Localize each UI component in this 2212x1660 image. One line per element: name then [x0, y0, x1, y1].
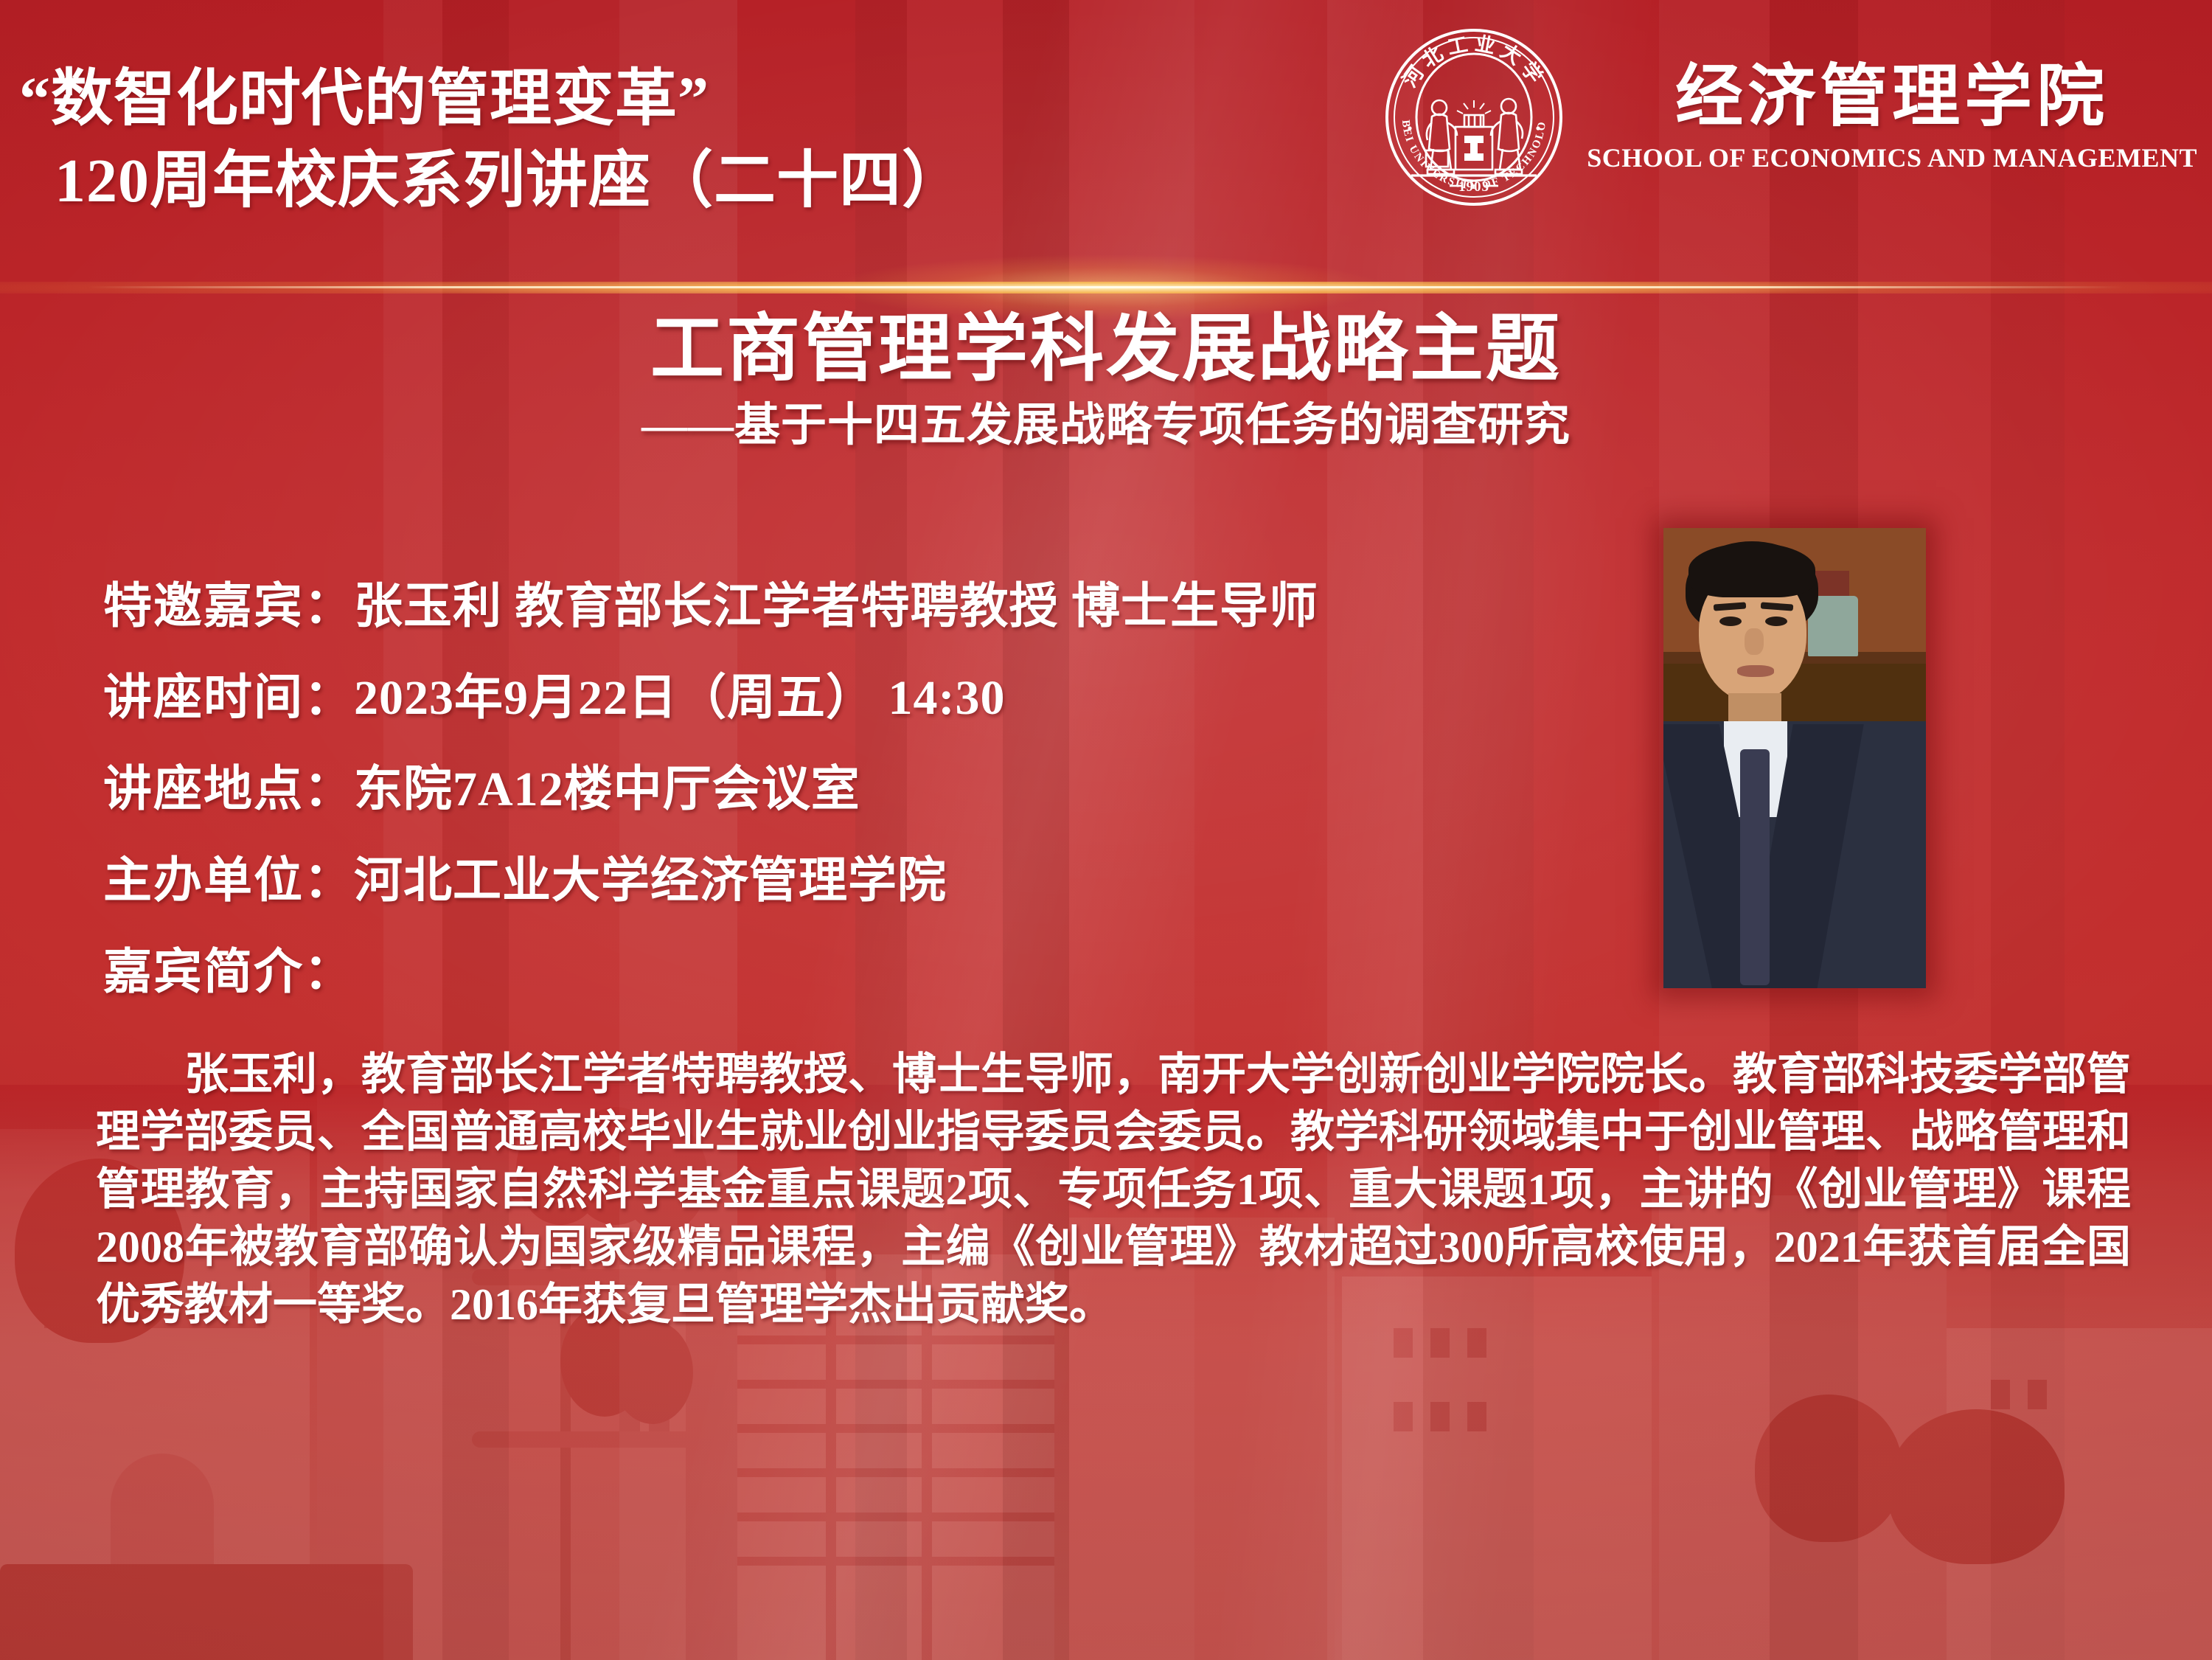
speaker-portrait-photo: [1663, 528, 1926, 988]
detail-label-time: 讲座时间：: [103, 671, 354, 725]
detail-label-organizer: 主办单位：: [103, 854, 354, 908]
detail-label-guest: 特邀嘉宾：: [103, 580, 354, 633]
school-name-en: SCHOOL OF ECONOMICS AND MANAGEMENT: [1587, 142, 2197, 173]
series-subtitle-line: 120周年校庆系列讲座（二十四）: [19, 141, 1317, 223]
series-heading: “数智化时代的管理变革” 120周年校庆系列讲座（二十四）: [19, 59, 1317, 223]
svg-text:河北工业大学: 河北工业大学: [1399, 32, 1551, 91]
lecture-title-main: 工商管理学科发展战略主题: [0, 308, 2212, 391]
school-name-cn: 经济管理学院: [1675, 61, 2109, 133]
school-name-block: 经济管理学院 SCHOOL OF ECONOMICS AND MANAGEMEN…: [1587, 61, 2197, 174]
university-seal-icon: 河北工业大学 HEBEI UNIVERSITY OF TECHNOLOGY: [1382, 25, 1566, 209]
detail-row-location: 讲座地点：东院7A12楼中厅会议室: [103, 765, 1622, 814]
lecture-title-sub: ——基于十四五发展战略专项任务的调查研究: [0, 395, 2212, 457]
lecture-details: 特邀嘉宾：张玉利 教育部长江学者特聘教授 博士生导师 讲座时间：2023年9月2…: [103, 583, 1622, 1040]
detail-value-time: 2023年9月22日（周五） 14:30: [354, 671, 1005, 725]
detail-value-location: 东院7A12楼中厅会议室: [354, 763, 860, 816]
series-quote-line: “数智化时代的管理变革”: [19, 65, 709, 133]
detail-label-location: 讲座地点：: [103, 763, 354, 816]
detail-value-guest: 张玉利 教育部长江学者特聘教授 博士生导师: [354, 580, 1318, 633]
detail-value-organizer: 河北工业大学经济管理学院: [354, 854, 947, 908]
school-logo-block: 河北工业大学 HEBEI UNIVERSITY OF TECHNOLOGY: [1382, 25, 2197, 209]
detail-row-bio-heading: 嘉宾简介：: [103, 948, 1622, 997]
detail-row-guest: 特邀嘉宾：张玉利 教育部长江学者特聘教授 博士生导师: [103, 583, 1622, 631]
lecture-poster: “数智化时代的管理变革” 120周年校庆系列讲座（二十四） 河北工业大学 HEB…: [0, 0, 2212, 1660]
speaker-biography: 张玉利，教育部长江学者特聘教授、博士生导师，南开大学创新创业学院院长。教育部科技…: [96, 1046, 2131, 1333]
gold-divider: [0, 282, 2212, 294]
page-title: 工商管理学科发展战略主题 ——基于十四五发展战略专项任务的调查研究: [0, 308, 2212, 457]
detail-row-organizer: 主办单位：河北工业大学经济管理学院: [103, 857, 1622, 906]
svg-text:1903: 1903: [1458, 179, 1489, 195]
detail-label-bio: 嘉宾简介：: [103, 945, 354, 999]
detail-row-time: 讲座时间：2023年9月22日（周五） 14:30: [103, 674, 1622, 723]
